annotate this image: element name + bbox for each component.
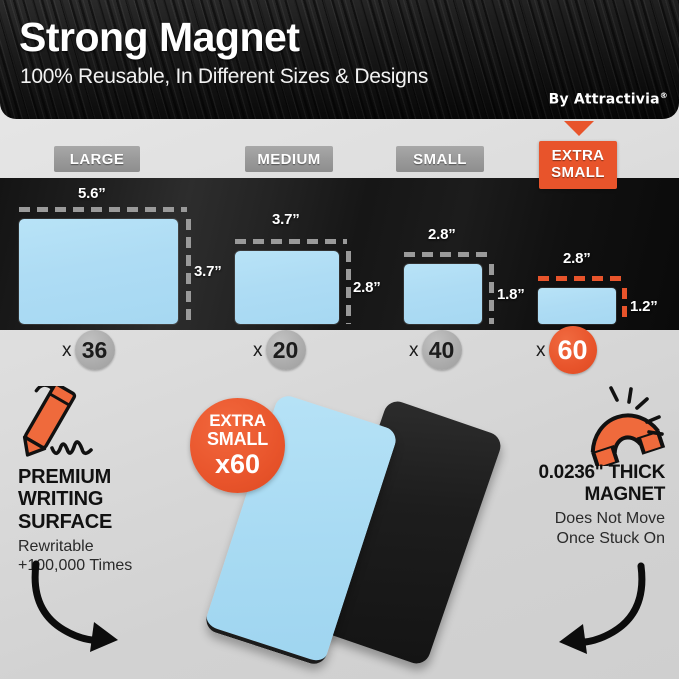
- curved-arrow-right-icon: [524, 562, 649, 662]
- quantity-prefix-extra-small: x: [536, 341, 546, 360]
- magnet-swatch-small: [404, 264, 482, 324]
- dimension-line-extra-small-height: [622, 288, 627, 324]
- size-badge-extra-small[interactable]: EXTRA SMALL: [539, 141, 617, 189]
- size-badge-extra-small-line1: EXTRA: [552, 148, 605, 165]
- dimension-label-medium-width: 3.7”: [272, 211, 300, 228]
- quantity-value-small: 40: [422, 330, 462, 370]
- quantity-badge-small: x 40: [409, 330, 462, 370]
- size-comparison-panel: 5.6” 3.7” 3.7” 2.8” 2.8” 1.8” 2.8” 1.2”: [0, 178, 679, 330]
- quantity-value-large: 36: [75, 330, 115, 370]
- dimension-label-extra-small-width: 2.8”: [563, 250, 591, 267]
- registered-mark: ®: [660, 91, 668, 100]
- size-badge-medium[interactable]: MEDIUM: [245, 146, 333, 172]
- dimension-label-small-width: 2.8”: [428, 226, 456, 243]
- dimension-line-extra-small-width: [538, 276, 624, 281]
- marker-pen-icon: [6, 386, 106, 469]
- quantity-badge-large: x 36: [62, 330, 115, 370]
- product-photo: EXTRA SMALL x60: [150, 378, 540, 679]
- infographic-canvas: Strong Magnet 100% Reusable, In Differen…: [0, 0, 679, 679]
- size-badge-small[interactable]: SMALL: [396, 146, 484, 172]
- size-badge-large[interactable]: LARGE: [54, 146, 140, 172]
- dimension-label-extra-small-height: 1.2”: [630, 298, 658, 315]
- quantity-value-extra-small: 60: [549, 326, 597, 374]
- product-badge-line2: SMALL: [207, 430, 268, 449]
- size-badge-extra-small-line2: SMALL: [551, 165, 605, 182]
- page-subtitle: 100% Reusable, In Different Sizes & Desi…: [20, 66, 428, 87]
- horseshoe-magnet-icon: [577, 384, 669, 471]
- magnet-swatch-medium: [235, 251, 339, 324]
- dimension-label-medium-height: 2.8”: [353, 279, 381, 296]
- dimension-label-large-width: 5.6”: [78, 185, 106, 202]
- header-banner: Strong Magnet 100% Reusable, In Differen…: [0, 0, 679, 119]
- quantity-prefix-medium: x: [253, 341, 263, 360]
- product-badge-line3: x60: [215, 450, 260, 479]
- quantity-prefix-small: x: [409, 341, 419, 360]
- page-title: Strong Magnet: [19, 17, 299, 58]
- magnet-swatch-large: [19, 219, 178, 324]
- dimension-line-large-height: [186, 219, 191, 324]
- triangle-pointer-icon: [564, 121, 594, 136]
- brand-name: By Attractivia: [549, 92, 660, 108]
- quantity-badge-extra-small: x 60: [536, 326, 597, 374]
- magnet-swatch-extra-small: [538, 288, 616, 324]
- product-quantity-badge: EXTRA SMALL x60: [190, 398, 285, 493]
- quantity-value-medium: 20: [266, 330, 306, 370]
- curved-arrow-left-icon: [28, 560, 153, 660]
- brand-label: By Attractivia®: [549, 92, 668, 107]
- quantity-badge-medium: x 20: [253, 330, 306, 370]
- product-badge-line1: EXTRA: [209, 412, 266, 430]
- quantity-prefix-large: x: [62, 341, 72, 360]
- dimension-label-small-height: 1.8”: [497, 286, 525, 303]
- dimension-line-medium-height: [346, 251, 351, 324]
- dimension-line-small-height: [489, 264, 494, 324]
- dimension-line-small-width: [404, 252, 490, 257]
- dimension-line-large-width: [19, 207, 187, 212]
- dimension-label-large-height: 3.7”: [194, 263, 222, 280]
- dimension-line-medium-width: [235, 239, 347, 244]
